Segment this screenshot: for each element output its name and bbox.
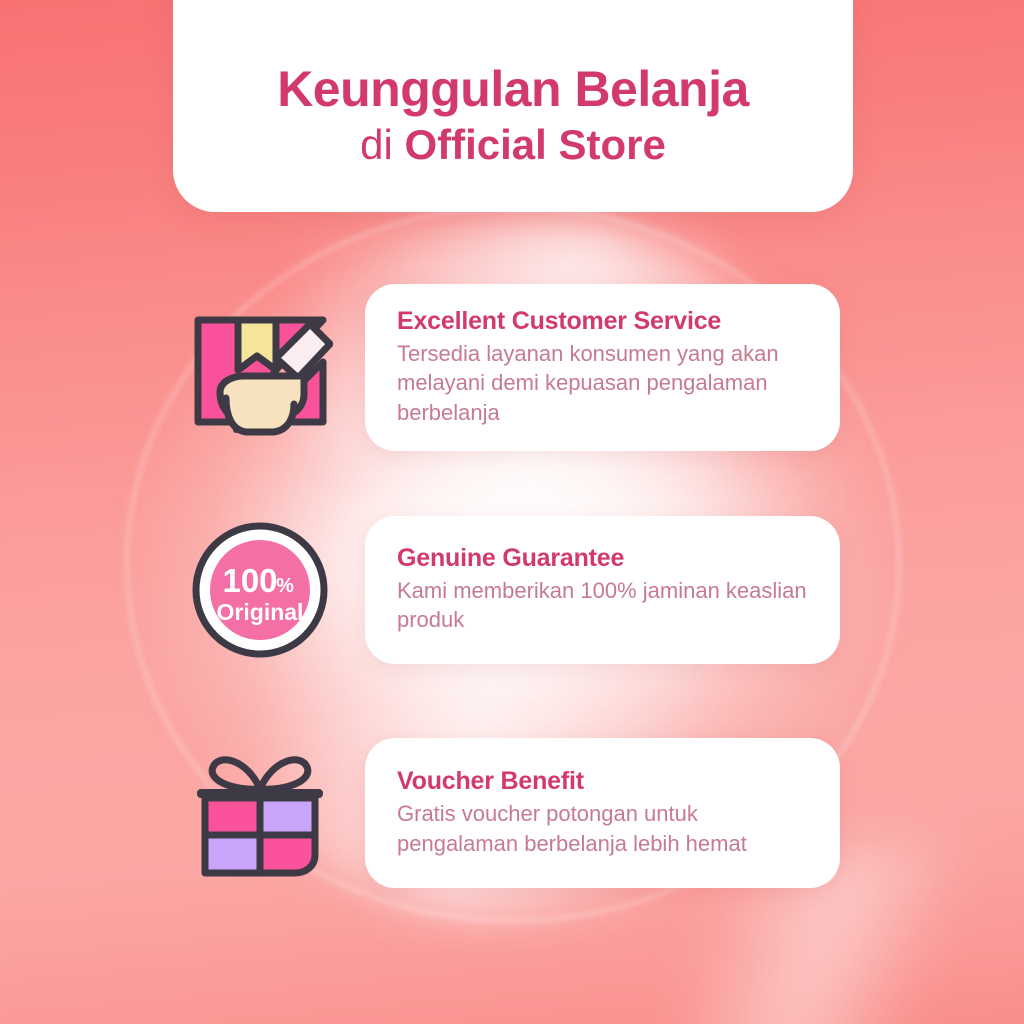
badge-label: Original: [217, 599, 304, 625]
feature-description: Kami memberikan 100% jaminan keaslian pr…: [397, 576, 810, 635]
promotional-poster: Keunggulan Belanja di Official Store: [0, 0, 1024, 1024]
badge-percent-symbol: %: [276, 575, 294, 597]
gift-box-icon: [185, 743, 335, 883]
feature-icon-slot: [180, 290, 340, 445]
page-subtitle: di Official Store: [360, 122, 666, 168]
feature-row: 100 % Original Genuine Guarantee Kami me…: [180, 512, 840, 667]
badge-percent-value: 100: [222, 562, 277, 599]
feature-title: Genuine Guarantee: [397, 543, 810, 573]
feature-row: Excellent Customer Service Tersedia laya…: [180, 290, 840, 445]
title-card: Keunggulan Belanja di Official Store: [173, 0, 853, 212]
subtitle-prefix: di: [360, 121, 404, 168]
feature-icon-slot: 100 % Original: [180, 512, 340, 667]
feature-title: Excellent Customer Service: [397, 306, 810, 336]
feature-icon-slot: [180, 733, 340, 893]
feature-card: Voucher Benefit Gratis voucher potongan …: [365, 738, 840, 888]
page-title: Keunggulan Belanja: [277, 63, 749, 116]
feature-row: Voucher Benefit Gratis voucher potongan …: [180, 733, 840, 893]
package-handshake-icon: [188, 298, 333, 438]
100-percent-original-badge-icon: 100 % Original: [190, 520, 330, 660]
subtitle-strong: Official Store: [404, 121, 665, 168]
feature-description: Tersedia layanan konsumen yang akan mela…: [397, 339, 810, 427]
feature-title: Voucher Benefit: [397, 766, 810, 796]
feature-card: Excellent Customer Service Tersedia laya…: [365, 284, 840, 451]
feature-description: Gratis voucher potongan untuk pengalaman…: [397, 799, 810, 858]
feature-card: Genuine Guarantee Kami memberikan 100% j…: [365, 516, 840, 664]
